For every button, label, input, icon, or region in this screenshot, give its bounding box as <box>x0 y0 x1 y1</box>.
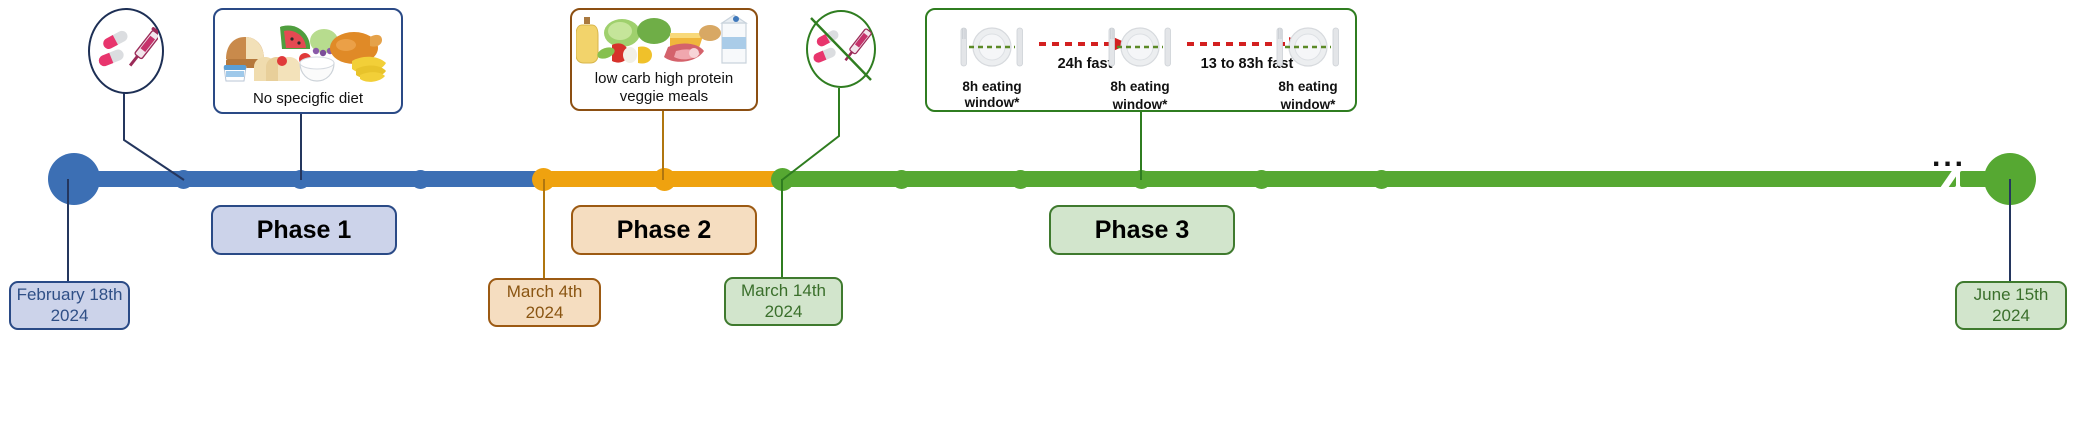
pills-syringe-glyph <box>94 19 158 83</box>
card-caption-line2: veggie meals <box>572 88 756 110</box>
phase-box-phase1[interactable]: Phase 1 <box>211 205 397 255</box>
card-fasting-schedule: 8h eating window* 24h fast 8h eating win… <box>925 8 1357 112</box>
plate-with-cutlery-icon <box>1103 22 1177 72</box>
eating-window-label-1b: window* <box>951 95 1033 111</box>
eating-window-2: 8h eating window* <box>1099 22 1181 113</box>
phase-box-phase3[interactable]: Phase 3 <box>1049 205 1235 255</box>
pills-and-syringe-crossed-out-icon <box>806 10 876 88</box>
card-caption-line1: low carb high protein <box>572 70 756 88</box>
card-no-specific-diet: No specigfic diet <box>213 8 403 114</box>
date-box-start[interactable]: February 18th 2024 <box>9 281 130 330</box>
crossed-out-slash <box>806 10 876 88</box>
assorted-food-glyph <box>220 15 396 85</box>
card-caption: No specigfic diet <box>215 90 401 112</box>
card-low-carb-diet: low carb high protein veggie meals <box>570 8 758 111</box>
eating-window-label-3a: 8h eating <box>1267 79 1349 95</box>
date-box-phase3[interactable]: March 14th 2024 <box>724 277 843 326</box>
date-line1: March 4th <box>507 282 583 303</box>
eating-window-1: 8h eating window* <box>951 22 1033 111</box>
date-box-phase2[interactable]: March 4th 2024 <box>488 278 601 327</box>
eating-window-label-1a: 8h eating <box>951 79 1033 95</box>
date-line2: 2024 <box>1992 306 2030 327</box>
date-line2: 2024 <box>51 306 89 327</box>
plate-with-cutlery-icon <box>955 22 1029 72</box>
date-line1: June 15th <box>1974 285 2049 306</box>
plate-with-cutlery-icon <box>1271 22 1345 72</box>
eating-window-label-3b: window* <box>1267 97 1349 113</box>
eating-window-label-2b: window* <box>1099 97 1181 113</box>
pills-and-syringe-icon <box>88 8 164 94</box>
low-carb-food-art <box>572 12 756 70</box>
date-line2: 2024 <box>526 303 564 324</box>
eating-window-3: 8h eating window* <box>1267 22 1349 113</box>
assorted-food-art <box>215 10 401 90</box>
eating-window-label-2a: 8h eating <box>1099 79 1181 95</box>
date-line1: February 18th <box>17 285 123 306</box>
date-line2: 2024 <box>765 302 803 323</box>
low-carb-food-glyph <box>576 13 752 69</box>
timeline-diagram: ... <box>0 0 2079 442</box>
date-box-end[interactable]: June 15th 2024 <box>1955 281 2067 330</box>
phase-box-phase2[interactable]: Phase 2 <box>571 205 757 255</box>
date-line1: March 14th <box>741 281 826 302</box>
